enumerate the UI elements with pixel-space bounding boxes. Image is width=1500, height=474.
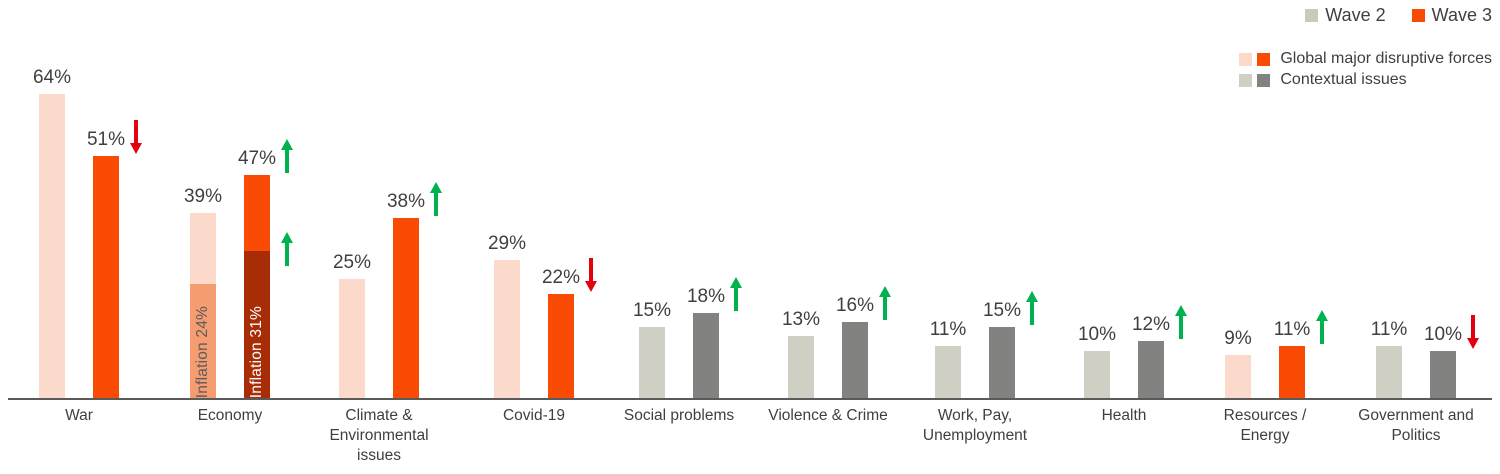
trend-arrow-down-icon [1466, 315, 1480, 349]
bar-value-label: 11% [1369, 320, 1409, 339]
x-axis-category-label: Government and Politics [1324, 406, 1500, 446]
bar-value-label: 10% [1423, 325, 1463, 344]
bar-wave-3[interactable] [1430, 351, 1456, 399]
bar-wave-2[interactable] [1376, 346, 1402, 398]
bar-chart-plot-area: 64%51%WarInflation 24%39%Inflation 31%47… [0, 0, 1500, 474]
bar-group: 11%10%Government and Politics [0, 0, 1500, 474]
